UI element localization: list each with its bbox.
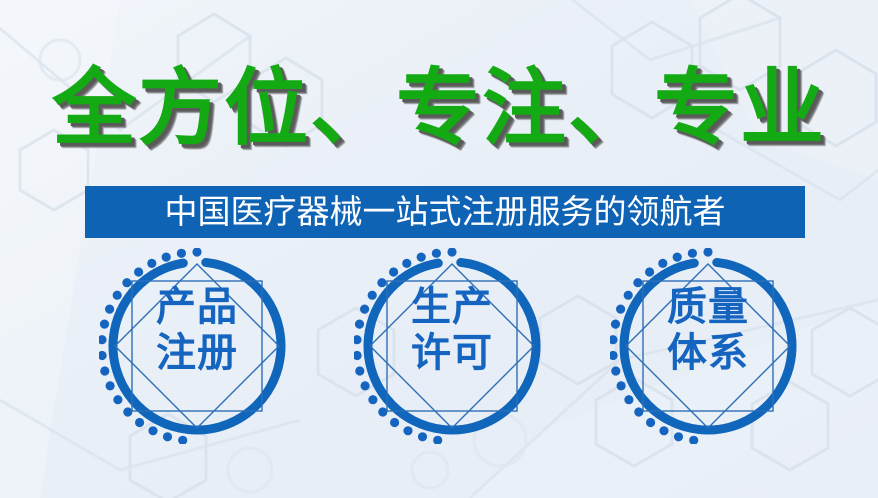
subtitle-bar: 中国医疗器械一站式注册服务的领航者 xyxy=(85,186,805,238)
badge-label: 质量 体系 xyxy=(610,284,806,376)
badge-label: 生产 许可 xyxy=(354,284,550,376)
badge-label: 产品 注册 xyxy=(99,284,295,376)
badge-production-license[interactable]: 生产 许可 xyxy=(354,248,550,444)
badge-product-registration[interactable]: 产品 注册 xyxy=(99,248,295,444)
badge-label-line1: 生产 xyxy=(354,284,550,330)
badge-label-line1: 质量 xyxy=(610,284,806,330)
page-title: 全方位、专注、专业 xyxy=(0,58,878,158)
badge-label-line2: 许可 xyxy=(354,330,550,376)
subtitle-text: 中国医疗器械一站式注册服务的领航者 xyxy=(165,194,726,230)
badge-quality-system[interactable]: 质量 体系 xyxy=(610,248,806,444)
badge-label-line2: 注册 xyxy=(99,330,295,376)
badge-label-line1: 产品 xyxy=(99,284,295,330)
promotional-banner: 全方位、专注、专业 中国医疗器械一站式注册服务的领航者 xyxy=(0,0,878,498)
badge-label-line2: 体系 xyxy=(610,330,806,376)
